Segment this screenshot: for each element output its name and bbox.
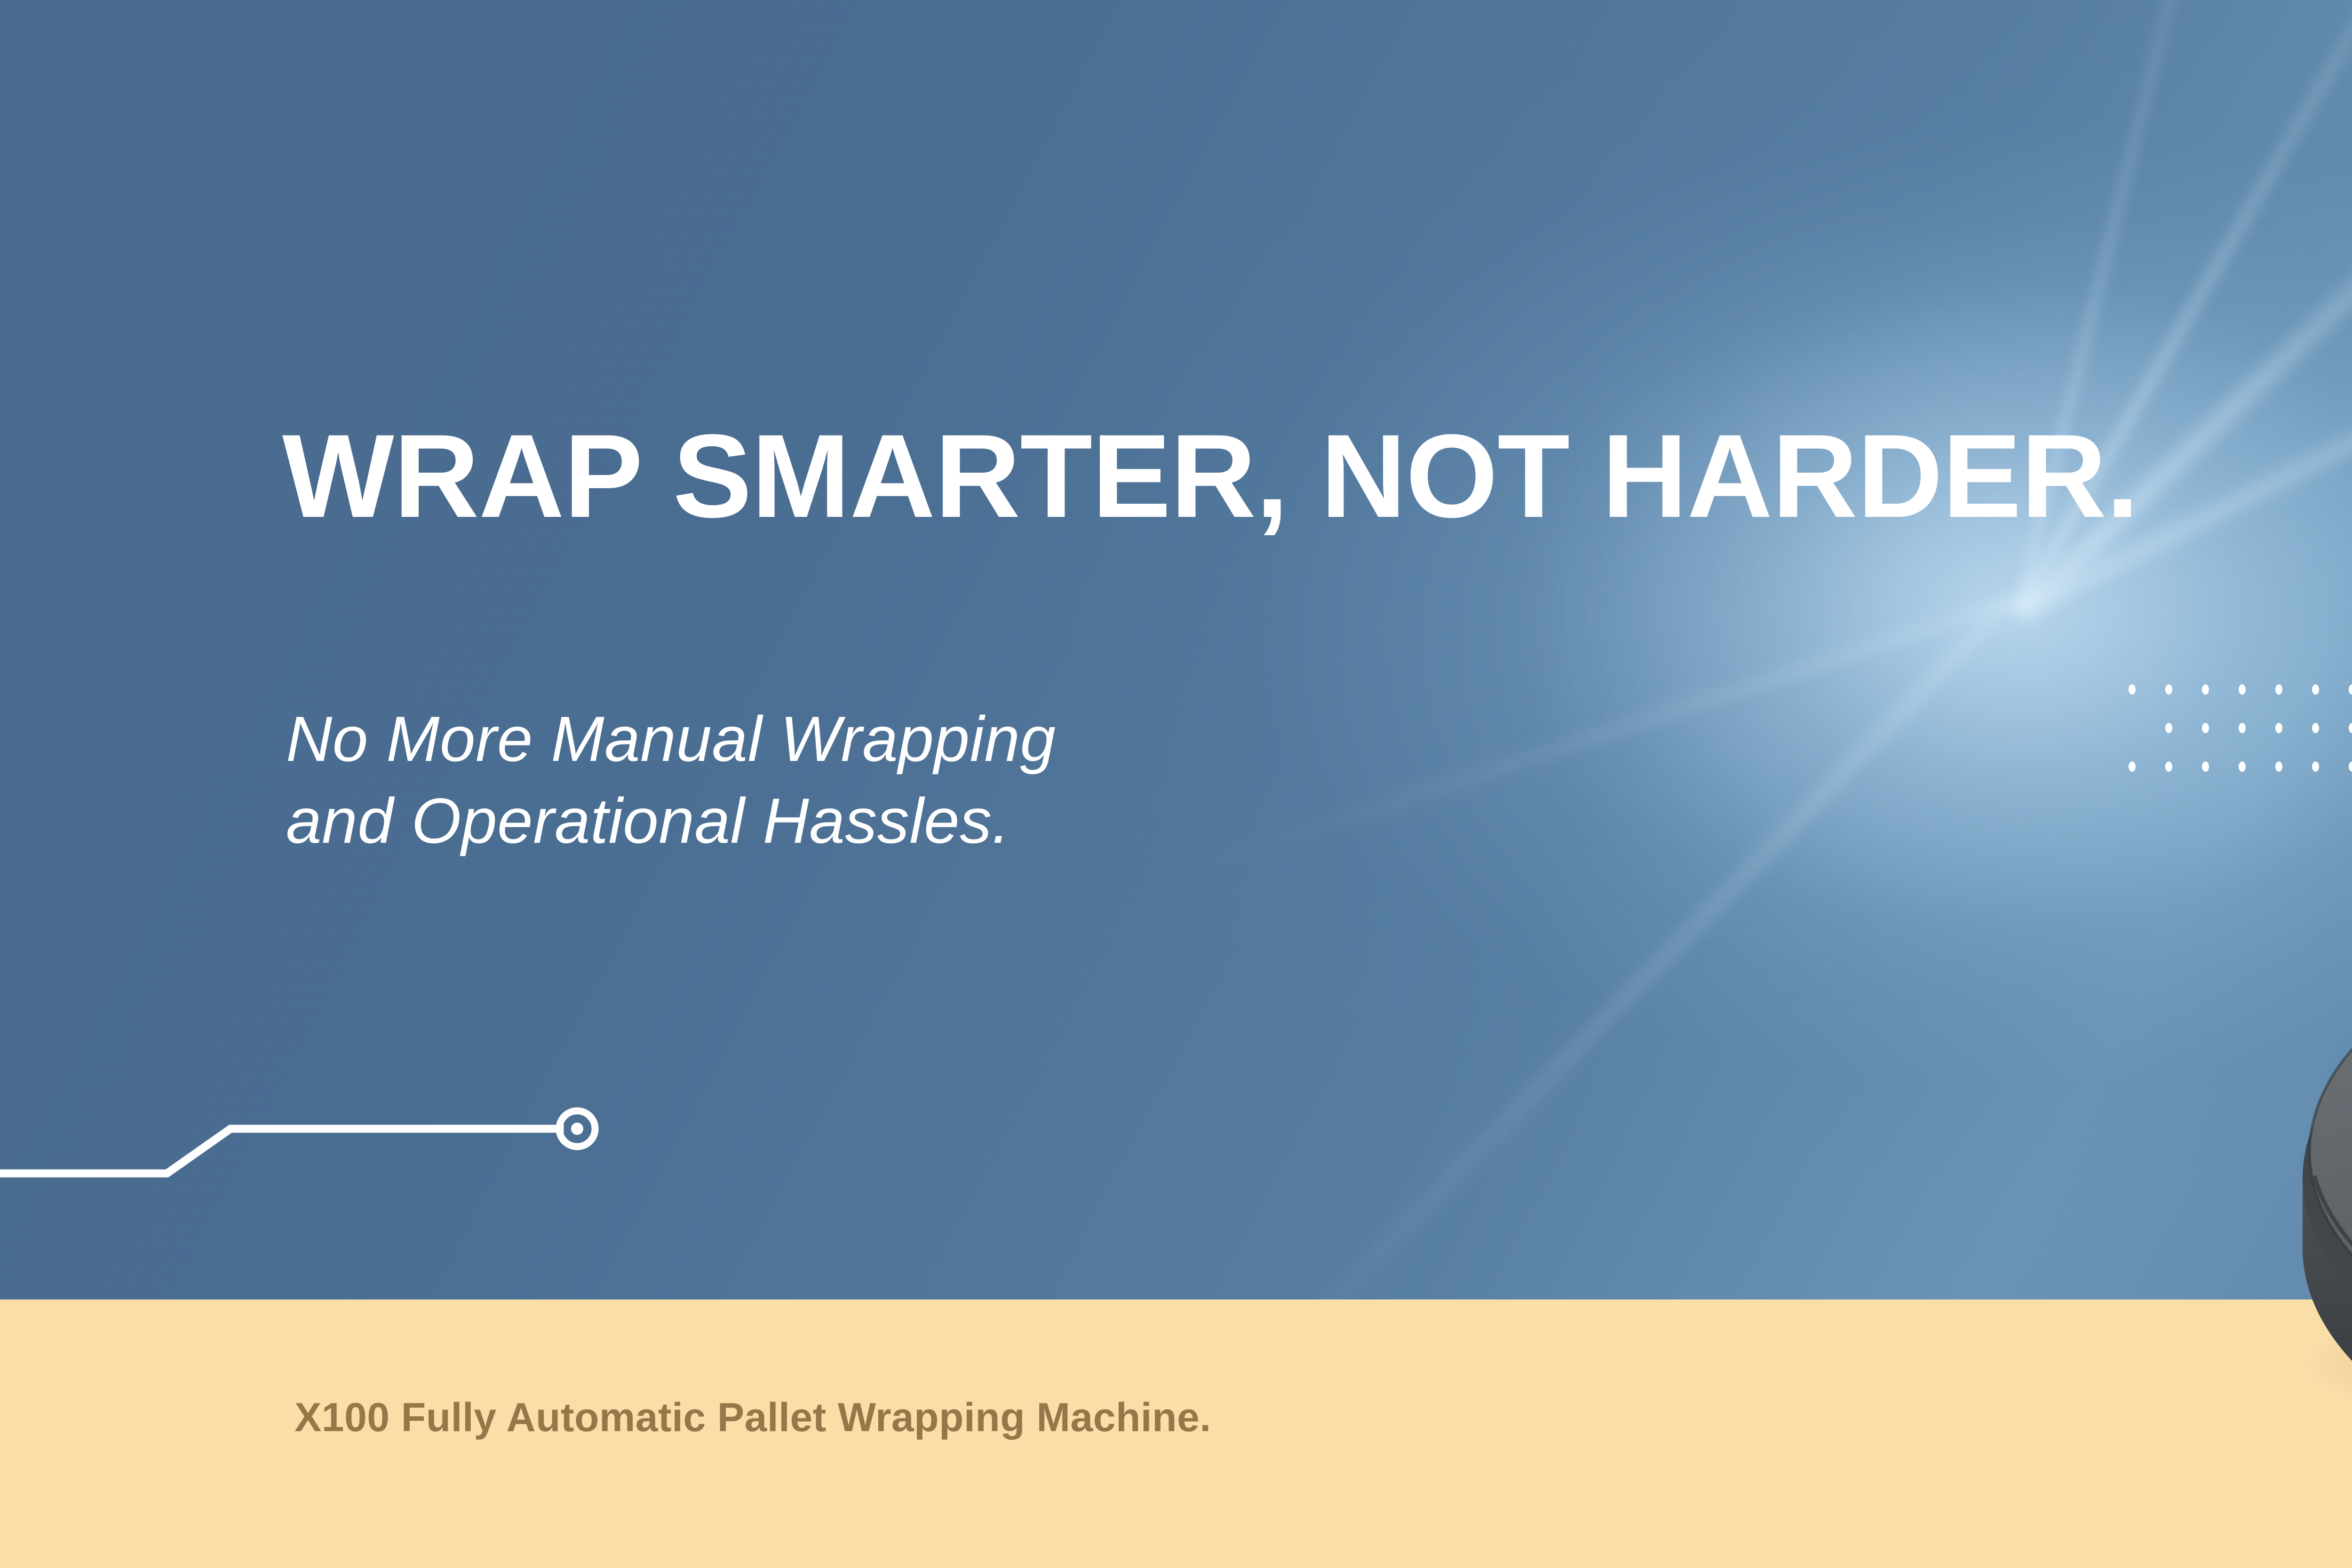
dot xyxy=(2165,761,2172,772)
dot xyxy=(2129,684,2136,695)
page-title: WRAP SMARTER, NOT HARDER. xyxy=(282,417,2138,536)
dot xyxy=(2165,684,2172,695)
hero-banner: SMART WASP xyxy=(0,0,2352,1568)
product-caption: X100 Fully Automatic Pallet Wrapping Mac… xyxy=(294,1394,1211,1441)
dot xyxy=(2165,723,2172,733)
subheadline: No More Manual Wrapping and Operational … xyxy=(286,698,1056,862)
pallet-wrapping-machine: SMART WASP xyxy=(2187,47,2352,1481)
dot xyxy=(2129,761,2136,772)
